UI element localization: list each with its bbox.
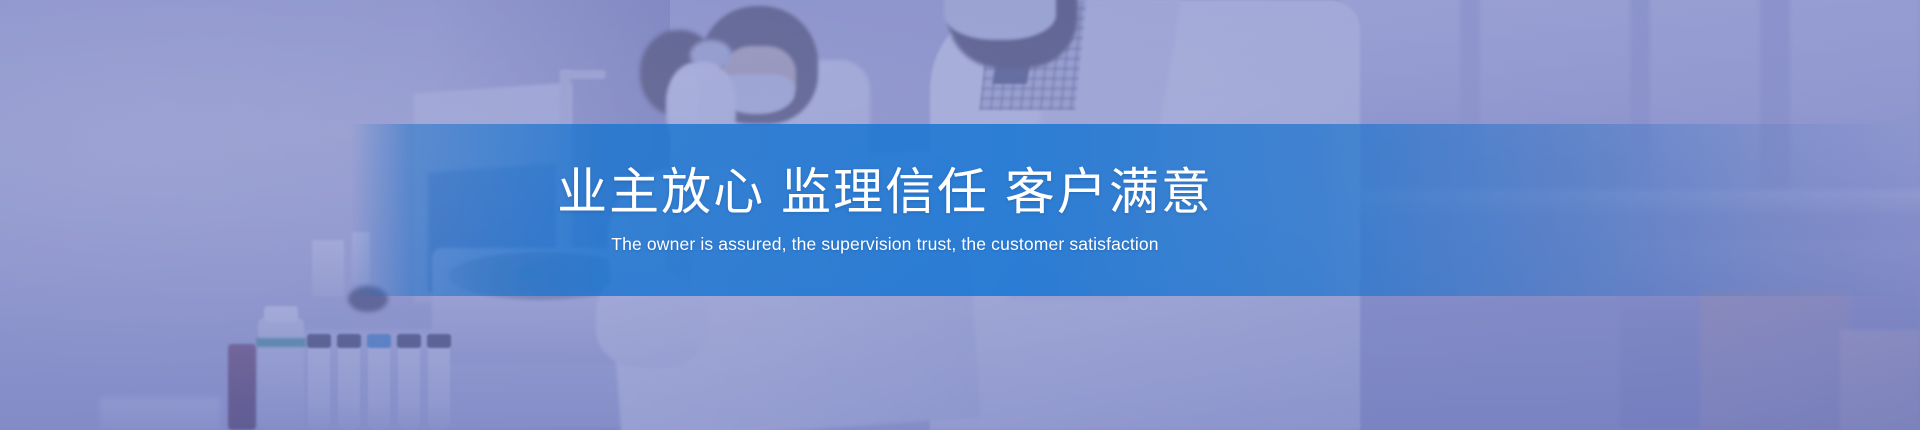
headline-band: 业主放心 监理信任 客户满意 The owner is assured, the… (350, 124, 1920, 296)
headline-band-content: 业主放心 监理信任 客户满意 The owner is assured, the… (350, 124, 1920, 296)
hero-banner: 业主放心 监理信任 客户满意 The owner is assured, the… (0, 0, 1920, 430)
page-title: 业主放心 监理信任 客户满意 (557, 164, 1213, 220)
page-subtitle: The owner is assured, the supervision tr… (611, 233, 1158, 256)
